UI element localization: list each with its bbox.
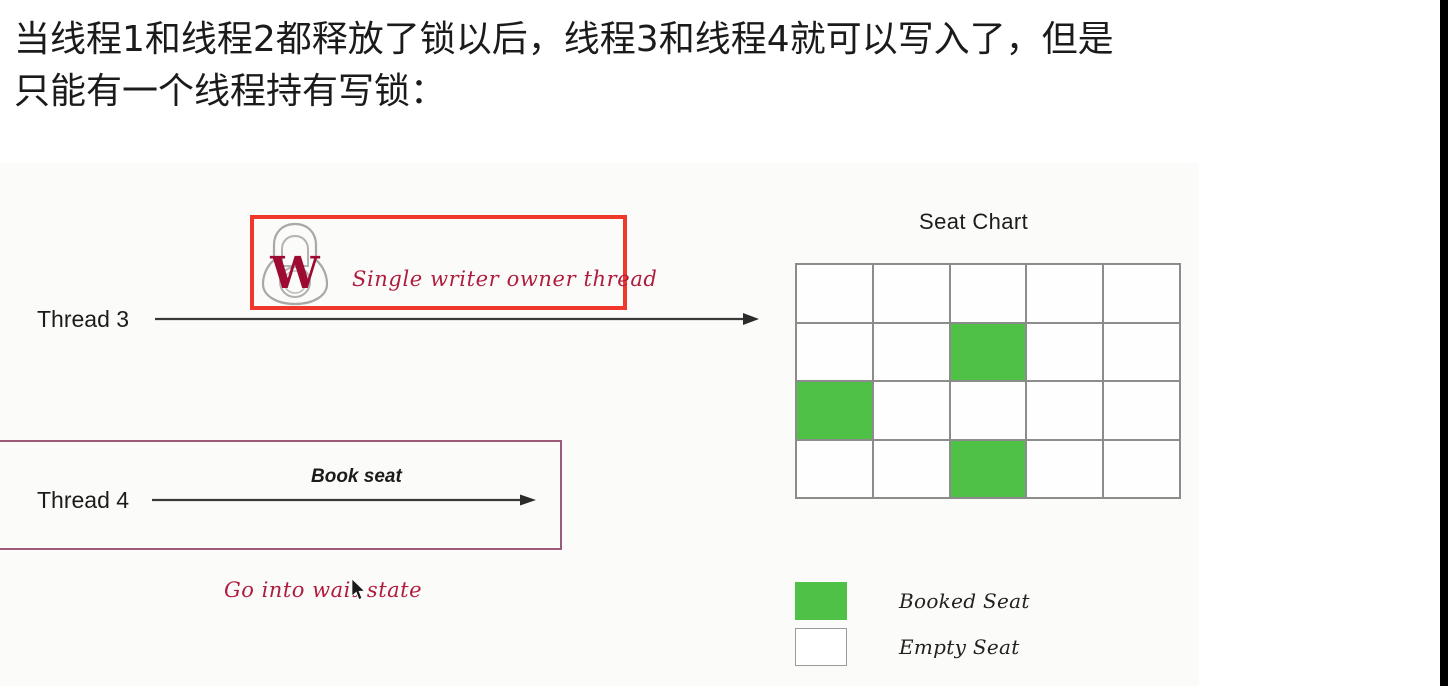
seat-cell[interactable] (951, 382, 1028, 441)
seat-cell[interactable] (1027, 265, 1104, 324)
caption-line-1: 当线程1和线程2都释放了锁以后，线程3和线程4就可以写入了，但是 (14, 14, 1438, 66)
seat-cell[interactable] (797, 265, 874, 324)
seat-chart-grid (795, 263, 1181, 499)
seat-cell[interactable] (874, 324, 951, 383)
book-seat-label: Book seat (311, 466, 402, 488)
thread3-arrow (155, 311, 759, 327)
wait-state-note: Go into wait state (224, 578, 422, 602)
seat-cell[interactable] (1104, 382, 1181, 441)
thread4-label: Thread 4 (37, 487, 129, 514)
seat-cell[interactable] (797, 382, 874, 441)
seat-cell[interactable] (797, 324, 874, 383)
legend-row: Empty Seat (795, 624, 1125, 670)
seat-cell[interactable] (1027, 324, 1104, 383)
seat-cell[interactable] (874, 441, 951, 500)
caption-text-block: 当线程1和线程2都释放了锁以后，线程3和线程4就可以写入了，但是 只能有一个线程… (0, 0, 1448, 160)
seat-cell[interactable] (1027, 382, 1104, 441)
seat-cell[interactable] (951, 265, 1028, 324)
thread3-label: Thread 3 (37, 306, 129, 333)
right-edge-strip (1440, 0, 1448, 686)
seat-chart-title: Seat Chart (919, 209, 1028, 235)
seat-cell[interactable] (1104, 324, 1181, 383)
lock-with-w-icon: W (258, 220, 332, 306)
seat-cell[interactable] (951, 324, 1028, 383)
seat-cell[interactable] (1104, 265, 1181, 324)
seat-cell[interactable] (1104, 441, 1181, 500)
legend-label-empty: Empty Seat (899, 635, 1020, 659)
legend-swatch-booked (795, 582, 847, 620)
seat-cell[interactable] (874, 382, 951, 441)
single-writer-note: Single writer owner thread (352, 267, 657, 291)
legend-row: Booked Seat (795, 578, 1125, 624)
seat-cell[interactable] (1027, 441, 1104, 500)
legend-swatch-empty (795, 628, 847, 666)
seat-cell[interactable] (951, 441, 1028, 500)
caption-line-2: 只能有一个线程持有写锁： (14, 66, 1438, 118)
seat-cell[interactable] (797, 441, 874, 500)
seat-cell[interactable] (874, 265, 951, 324)
lock-letter: W (269, 248, 320, 299)
legend-label-booked: Booked Seat (899, 589, 1030, 613)
seat-chart-legend: Booked SeatEmpty Seat (795, 578, 1125, 670)
thread4-arrow (152, 492, 536, 508)
